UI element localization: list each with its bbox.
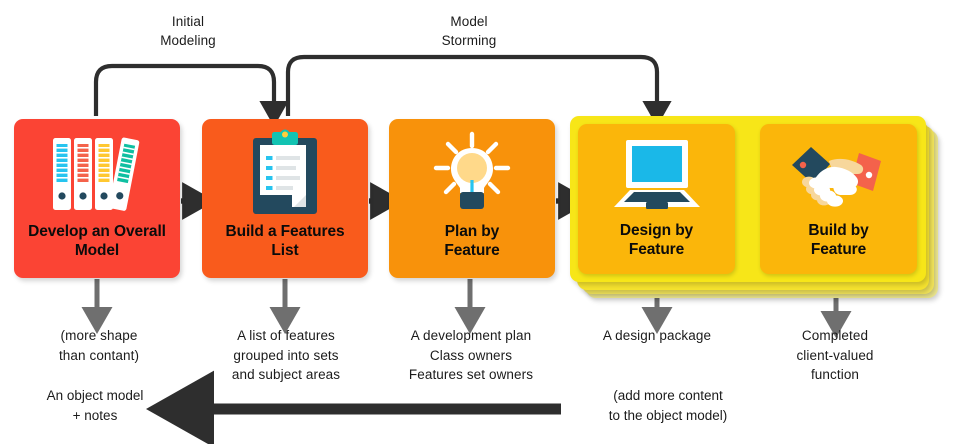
arrow-initial-modeling	[96, 66, 274, 116]
stage-card-develop-an-overall-model[interactable]: Develop an Overall Model	[14, 119, 180, 278]
stage-card-build-by-feature[interactable]: Build by Feature	[760, 124, 917, 274]
stage-label: Plan by Feature	[438, 223, 505, 260]
output-caption-stage-5: Completed client-valued function	[770, 326, 900, 385]
laptop-icon	[610, 127, 704, 222]
loop-label-model-storming: Model Storming	[414, 12, 524, 50]
feedback-label-object-model: An object model + notes	[25, 386, 165, 425]
stage-label: Design by Feature	[614, 222, 699, 259]
fdd-process-diagram: Initial Modeling Model Storming	[0, 0, 958, 444]
handshake-icon	[789, 127, 889, 222]
stage-label: Build by Feature	[802, 222, 874, 259]
stage-card-plan-by-feature[interactable]: Plan by Feature	[389, 119, 555, 278]
arrow-model-storming	[288, 57, 657, 116]
binders-icon	[49, 123, 145, 223]
stage-card-build-a-features-list[interactable]: Build a Features List	[202, 119, 368, 278]
output-caption-stage-1: (more shape than contant)	[37, 326, 161, 365]
loop-label-initial-modeling: Initial Modeling	[133, 12, 243, 50]
lightbulb-icon	[426, 123, 518, 223]
output-caption-stage-4: A design package	[581, 326, 733, 346]
stage-label: Build a Features List	[220, 223, 351, 260]
feedback-label-add-more-content: (add more content to the object model)	[588, 386, 748, 425]
output-caption-stage-2: A list of features grouped into sets and…	[213, 326, 359, 385]
stage-label: Develop an Overall Model	[22, 223, 172, 260]
output-caption-stage-3: A development plan Class owners Features…	[391, 326, 551, 385]
stage-card-design-by-feature[interactable]: Design by Feature	[578, 124, 735, 274]
clipboard-checklist-icon	[246, 123, 324, 223]
